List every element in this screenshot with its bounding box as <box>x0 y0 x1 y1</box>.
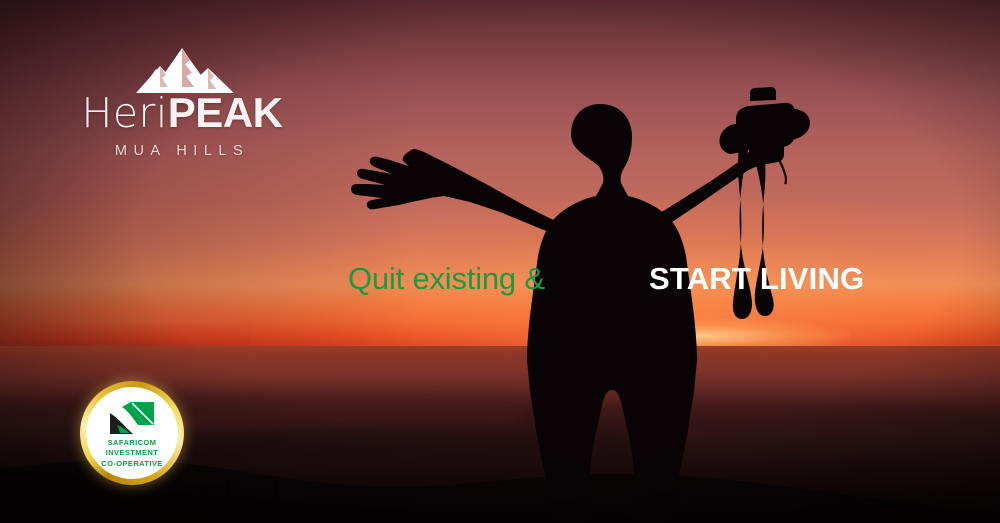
badge-line-1: SAFARICOM <box>101 438 162 448</box>
logo-wordmark: HeriPEAK <box>72 92 292 134</box>
safaricom-logo-icon <box>108 401 156 435</box>
badge-line-2: INVESTMENT <box>101 448 162 458</box>
badge-face: SAFARICOM INVESTMENT CO-OPERATIVE <box>86 387 178 479</box>
badge-line-3: CO-OPERATIVE <box>101 459 162 469</box>
logo-word-light: Heri <box>81 89 167 137</box>
heripeak-logo[interactable]: HeriPEAK MUA HILLS <box>72 46 292 159</box>
badge-text: SAFARICOM INVESTMENT CO-OPERATIVE <box>101 438 162 468</box>
banner-image: HeriPEAK MUA HILLS Quit existing & START… <box>0 0 1000 523</box>
safaricom-investment-co-operative-badge[interactable]: SAFARICOM INVESTMENT CO-OPERATIVE <box>80 381 184 485</box>
logo-word-bold: PEAK <box>168 89 283 136</box>
logo-subtitle: MUA HILLS <box>72 143 292 159</box>
